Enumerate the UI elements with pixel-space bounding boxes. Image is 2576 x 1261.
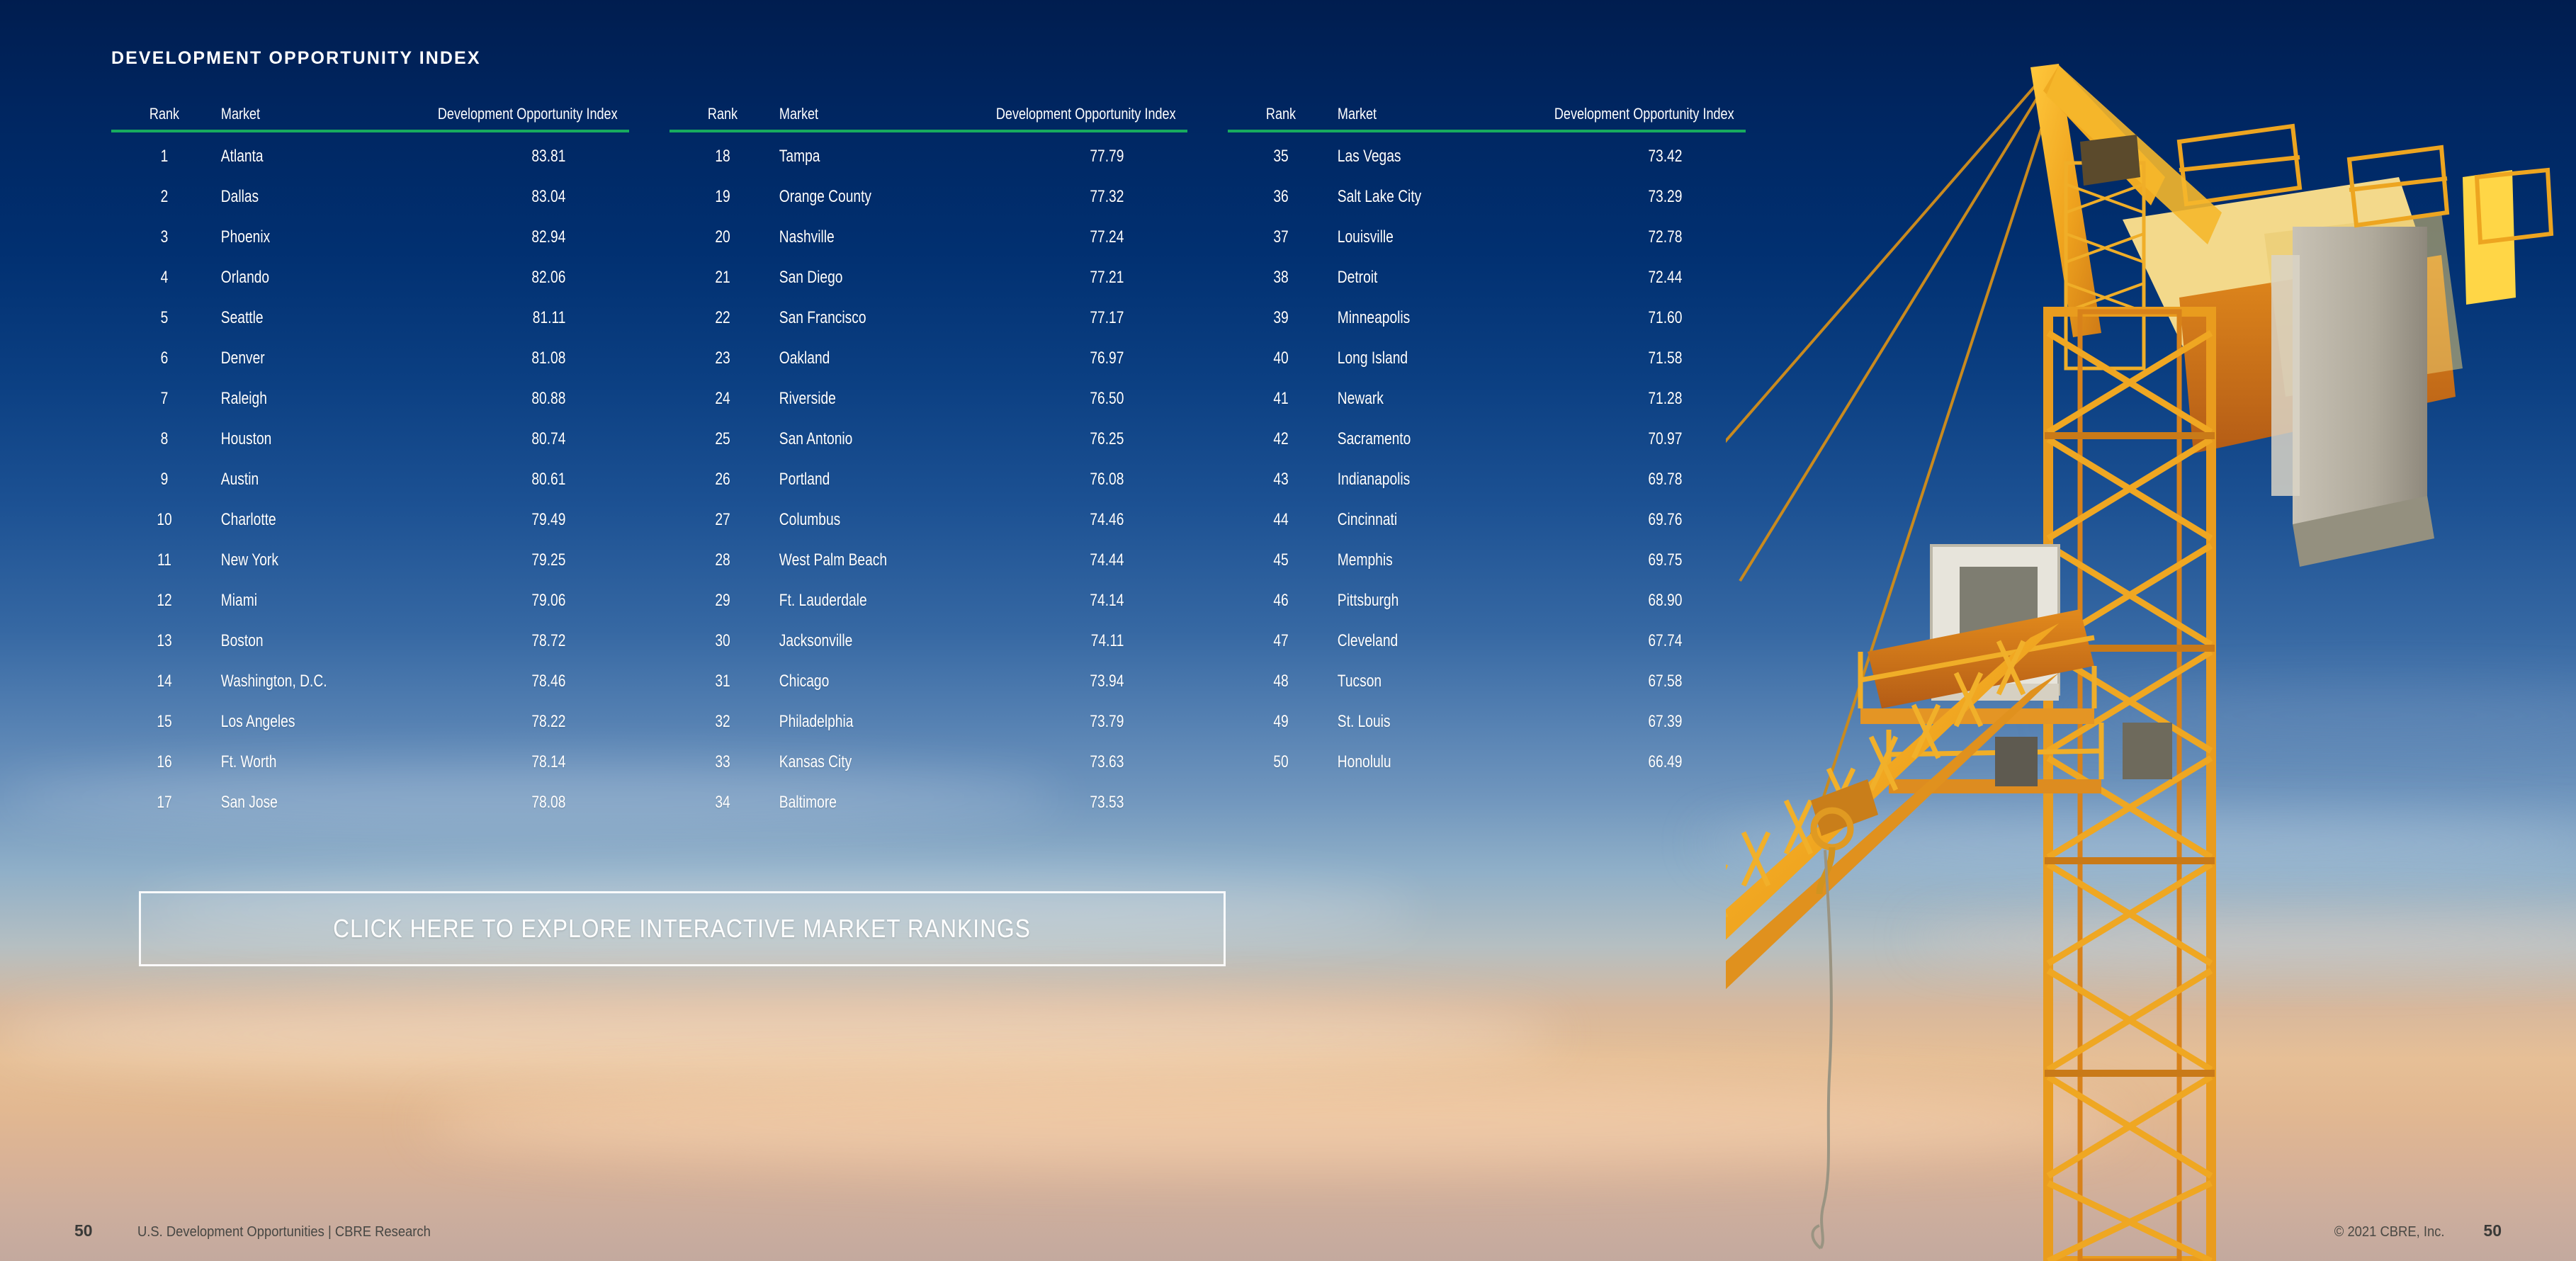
footer-caption: U.S. Development Opportunities | CBRE Re…	[137, 1224, 431, 1240]
cell-market: Honolulu	[1334, 752, 1447, 772]
cell-index: 69.75	[1530, 550, 1746, 570]
cell-rank: 23	[680, 349, 765, 368]
cell-index: 71.60	[1530, 308, 1746, 328]
table-row: 3Phoenix82.94	[111, 217, 629, 257]
table-row: 22San Francisco77.17	[670, 298, 1187, 338]
table-row: 31Chicago73.94	[670, 661, 1187, 701]
cell-rank: 44	[1238, 510, 1323, 530]
cell-index: 67.58	[1530, 672, 1746, 691]
cell-index: 81.08	[413, 349, 629, 368]
cell-index: 76.25	[971, 429, 1187, 449]
table-row: 34Baltimore73.53	[670, 782, 1187, 822]
table-row: 7Raleigh80.88	[111, 378, 629, 419]
header-divider-green	[111, 130, 629, 132]
cell-market: San Francisco	[776, 308, 889, 328]
cell-market: Pittsburgh	[1334, 591, 1447, 611]
cell-rank: 3	[122, 227, 207, 247]
cell-rank: 29	[680, 591, 765, 611]
cell-market: Philadelphia	[776, 712, 889, 732]
table-row: 50Honolulu66.49	[1228, 742, 1746, 782]
table-row: 23Oakland76.97	[670, 338, 1187, 378]
cell-market: Charlotte	[218, 510, 331, 530]
footer-left: 50 U.S. Development Opportunities | CBRE…	[74, 1221, 443, 1240]
cell-index: 72.78	[1530, 227, 1746, 247]
table-row: 14Washington, D.C.78.46	[111, 661, 629, 701]
table-row: 11New York79.25	[111, 540, 629, 580]
cell-rank: 30	[680, 631, 765, 651]
table-row: 25San Antonio76.25	[670, 419, 1187, 459]
cell-market: Memphis	[1334, 550, 1447, 570]
column-header-market: Market	[1334, 105, 1450, 123]
cell-rank: 27	[680, 510, 765, 530]
cell-rank: 1	[122, 147, 207, 166]
cell-index: 76.50	[971, 389, 1187, 409]
cell-index: 74.11	[971, 631, 1187, 651]
cell-market: Seattle	[218, 308, 331, 328]
cell-index: 74.14	[971, 591, 1187, 611]
cell-rank: 32	[680, 712, 765, 732]
cell-market: Orlando	[218, 268, 331, 288]
table-row: 44Cincinnati69.76	[1228, 499, 1746, 540]
cell-market: Boston	[218, 631, 331, 651]
cell-market: St. Louis	[1334, 712, 1447, 732]
cell-market: Miami	[218, 591, 331, 611]
cell-rank: 10	[122, 510, 207, 530]
cell-market: Long Island	[1334, 349, 1447, 368]
cell-index: 80.88	[413, 389, 629, 409]
page-number-left: 50	[74, 1221, 93, 1240]
cell-rank: 24	[680, 389, 765, 409]
table-row: 36Salt Lake City73.29	[1228, 176, 1746, 217]
cell-market: Jacksonville	[776, 631, 889, 651]
cell-rank: 50	[1238, 752, 1323, 772]
cell-rank: 8	[122, 429, 207, 449]
table-body: 18Tampa77.7919Orange County77.3220Nashvi…	[670, 136, 1187, 822]
cell-index: 82.94	[413, 227, 629, 247]
cell-market: Columbus	[776, 510, 889, 530]
table-row: 42Sacramento70.97	[1228, 419, 1746, 459]
cell-market: Louisville	[1334, 227, 1447, 247]
cell-market: Detroit	[1334, 268, 1447, 288]
ranking-table-column-2: Rank Market Development Opportunity Inde…	[670, 92, 1187, 822]
cell-index: 79.25	[413, 550, 629, 570]
footer-right: © 2021 CBRE, Inc. 50	[2329, 1221, 2502, 1240]
cell-market: Phoenix	[218, 227, 331, 247]
cell-rank: 26	[680, 470, 765, 490]
cell-index: 73.53	[971, 793, 1187, 813]
cell-rank: 20	[680, 227, 765, 247]
cell-index: 78.72	[413, 631, 629, 651]
cell-rank: 4	[122, 268, 207, 288]
cell-rank: 38	[1238, 268, 1323, 288]
cell-index: 83.04	[413, 187, 629, 207]
cell-rank: 12	[122, 591, 207, 611]
cell-index: 78.46	[413, 672, 629, 691]
cell-index: 74.46	[971, 510, 1187, 530]
cell-rank: 46	[1238, 591, 1323, 611]
table-row: 32Philadelphia73.79	[670, 701, 1187, 742]
table-row: 26Portland76.08	[670, 459, 1187, 499]
table-row: 18Tampa77.79	[670, 136, 1187, 176]
cell-index: 71.28	[1530, 389, 1746, 409]
cell-market: Houston	[218, 429, 331, 449]
cell-rank: 7	[122, 389, 207, 409]
page-number-right: 50	[2483, 1221, 2502, 1240]
cell-index: 81.11	[413, 308, 629, 328]
column-header-index: Development Opportunity Index	[408, 105, 629, 123]
column-header-rank: Rank	[121, 105, 208, 123]
cell-market: New York	[218, 550, 331, 570]
cell-rank: 48	[1238, 672, 1323, 691]
table-row: 30Jacksonville74.11	[670, 621, 1187, 661]
cell-rank: 41	[1238, 389, 1323, 409]
cell-rank: 47	[1238, 631, 1323, 651]
table-header-row: Rank Market Development Opportunity Inde…	[670, 92, 1187, 123]
cell-index: 77.17	[971, 308, 1187, 328]
table-row: 35Las Vegas73.42	[1228, 136, 1746, 176]
cell-market: Atlanta	[218, 147, 331, 166]
table-header-row: Rank Market Development Opportunity Inde…	[1228, 92, 1746, 123]
table-row: 21San Diego77.21	[670, 257, 1187, 298]
cell-index: 79.06	[413, 591, 629, 611]
cell-market: Washington, D.C.	[218, 672, 331, 691]
cell-rank: 14	[122, 672, 207, 691]
table-row: 12Miami79.06	[111, 580, 629, 621]
cell-market: Denver	[218, 349, 331, 368]
cell-index: 73.29	[1530, 187, 1746, 207]
cell-index: 76.08	[971, 470, 1187, 490]
cell-market: West Palm Beach	[776, 550, 889, 570]
table-row: 15Los Angeles78.22	[111, 701, 629, 742]
table-header-row: Rank Market Development Opportunity Inde…	[111, 92, 629, 123]
cell-rank: 16	[122, 752, 207, 772]
cell-rank: 18	[680, 147, 765, 166]
cell-market: Sacramento	[1334, 429, 1447, 449]
cell-index: 73.42	[1530, 147, 1746, 166]
cell-rank: 5	[122, 308, 207, 328]
cell-market: Kansas City	[776, 752, 889, 772]
cell-market: Las Vegas	[1334, 147, 1447, 166]
cell-rank: 25	[680, 429, 765, 449]
column-header-index: Development Opportunity Index	[966, 105, 1187, 123]
cell-market: Ft. Worth	[218, 752, 331, 772]
table-row: 38Detroit72.44	[1228, 257, 1746, 298]
table-row: 5Seattle81.11	[111, 298, 629, 338]
table-row: 16Ft. Worth78.14	[111, 742, 629, 782]
cell-index: 77.24	[971, 227, 1187, 247]
cell-market: Minneapolis	[1334, 308, 1447, 328]
cell-rank: 31	[680, 672, 765, 691]
cell-market: Portland	[776, 470, 889, 490]
cell-market: Salt Lake City	[1334, 187, 1447, 207]
table-row: 20Nashville77.24	[670, 217, 1187, 257]
table-row: 37Louisville72.78	[1228, 217, 1746, 257]
table-row: 24Riverside76.50	[670, 378, 1187, 419]
cell-rank: 39	[1238, 308, 1323, 328]
cell-market: Tampa	[776, 147, 889, 166]
cell-market: Nashville	[776, 227, 889, 247]
column-header-index: Development Opportunity Index	[1525, 105, 1746, 123]
cell-market: Ft. Lauderdale	[776, 591, 889, 611]
table-body: 1Atlanta83.812Dallas83.043Phoenix82.944O…	[111, 136, 629, 822]
column-header-rank: Rank	[1238, 105, 1325, 123]
cell-index: 74.44	[971, 550, 1187, 570]
cell-market: San Jose	[218, 793, 331, 813]
cell-index: 80.61	[413, 470, 629, 490]
column-header-market: Market	[776, 105, 892, 123]
table-row: 28West Palm Beach74.44	[670, 540, 1187, 580]
cell-rank: 13	[122, 631, 207, 651]
cell-rank: 43	[1238, 470, 1323, 490]
cell-index: 73.63	[971, 752, 1187, 772]
table-row: 8Houston80.74	[111, 419, 629, 459]
cell-rank: 40	[1238, 349, 1323, 368]
table-row: 47Cleveland67.74	[1228, 621, 1746, 661]
table-row: 49St. Louis67.39	[1228, 701, 1746, 742]
table-row: 17San Jose78.08	[111, 782, 629, 822]
cell-rank: 34	[680, 793, 765, 813]
cell-market: San Antonio	[776, 429, 889, 449]
ranking-table-column-1: Rank Market Development Opportunity Inde…	[111, 92, 629, 822]
table-row: 33Kansas City73.63	[670, 742, 1187, 782]
cell-rank: 33	[680, 752, 765, 772]
cell-rank: 35	[1238, 147, 1323, 166]
cell-rank: 2	[122, 187, 207, 207]
table-row: 1Atlanta83.81	[111, 136, 629, 176]
table-row: 41Newark71.28	[1228, 378, 1746, 419]
table-row: 48Tucson67.58	[1228, 661, 1746, 701]
cell-market: Newark	[1334, 389, 1447, 409]
cell-rank: 28	[680, 550, 765, 570]
cell-index: 83.81	[413, 147, 629, 166]
cell-market: Indianapolis	[1334, 470, 1447, 490]
cell-index: 66.49	[1530, 752, 1746, 772]
cell-index: 78.22	[413, 712, 629, 732]
cell-market: San Diego	[776, 268, 889, 288]
cell-rank: 37	[1238, 227, 1323, 247]
cell-rank: 15	[122, 712, 207, 732]
cell-index: 76.97	[971, 349, 1187, 368]
cell-rank: 6	[122, 349, 207, 368]
cell-market: Riverside	[776, 389, 889, 409]
column-header-rank: Rank	[679, 105, 767, 123]
table-row: 6Denver81.08	[111, 338, 629, 378]
column-header-market: Market	[218, 105, 334, 123]
table-row: 45Memphis69.75	[1228, 540, 1746, 580]
cell-market: Cleveland	[1334, 631, 1447, 651]
cell-market: Baltimore	[776, 793, 889, 813]
cell-rank: 42	[1238, 429, 1323, 449]
cell-rank: 17	[122, 793, 207, 813]
cell-index: 68.90	[1530, 591, 1746, 611]
table-row: 29Ft. Lauderdale74.14	[670, 580, 1187, 621]
cell-index: 77.79	[971, 147, 1187, 166]
cell-index: 69.76	[1530, 510, 1746, 530]
cell-index: 73.79	[971, 712, 1187, 732]
cell-rank: 22	[680, 308, 765, 328]
cell-index: 67.74	[1530, 631, 1746, 651]
cell-market: Chicago	[776, 672, 889, 691]
table-row: 4Orlando82.06	[111, 257, 629, 298]
table-row: 2Dallas83.04	[111, 176, 629, 217]
copyright-notice: © 2021 CBRE, Inc.	[2334, 1224, 2445, 1240]
cta-label: CLICK HERE TO EXPLORE INTERACTIVE MARKET…	[334, 914, 1032, 944]
cell-index: 67.39	[1530, 712, 1746, 732]
header-divider-green	[670, 130, 1187, 132]
cell-rank: 45	[1238, 550, 1323, 570]
cell-market: Los Angeles	[218, 712, 331, 732]
table-row: 10Charlotte79.49	[111, 499, 629, 540]
table-row: 40Long Island71.58	[1228, 338, 1746, 378]
cell-market: Orange County	[776, 187, 889, 207]
cell-market: Dallas	[218, 187, 331, 207]
cell-rank: 36	[1238, 187, 1323, 207]
cell-index: 77.32	[971, 187, 1187, 207]
header-divider-green	[1228, 130, 1746, 132]
table-body: 35Las Vegas73.4236Salt Lake City73.2937L…	[1228, 136, 1746, 782]
cell-index: 70.97	[1530, 429, 1746, 449]
table-row: 9Austin80.61	[111, 459, 629, 499]
cell-market: Raleigh	[218, 389, 331, 409]
page-title: DEVELOPMENT OPPORTUNITY INDEX	[111, 48, 481, 69]
ranking-table-column-3: Rank Market Development Opportunity Inde…	[1228, 92, 1746, 782]
cell-index: 78.14	[413, 752, 629, 772]
cell-index: 77.21	[971, 268, 1187, 288]
cell-index: 78.08	[413, 793, 629, 813]
cell-rank: 9	[122, 470, 207, 490]
table-row: 27Columbus74.46	[670, 499, 1187, 540]
table-row: 43Indianapolis69.78	[1228, 459, 1746, 499]
cell-market: Cincinnati	[1334, 510, 1447, 530]
cell-rank: 49	[1238, 712, 1323, 732]
cell-index: 79.49	[413, 510, 629, 530]
explore-market-rankings-button[interactable]: CLICK HERE TO EXPLORE INTERACTIVE MARKET…	[139, 891, 1226, 966]
cell-index: 80.74	[413, 429, 629, 449]
cell-index: 73.94	[971, 672, 1187, 691]
cell-market: Austin	[218, 470, 331, 490]
cell-index: 72.44	[1530, 268, 1746, 288]
cell-index: 82.06	[413, 268, 629, 288]
table-row: 13Boston78.72	[111, 621, 629, 661]
cell-rank: 21	[680, 268, 765, 288]
cell-rank: 11	[122, 550, 207, 570]
table-row: 19Orange County77.32	[670, 176, 1187, 217]
table-row: 39Minneapolis71.60	[1228, 298, 1746, 338]
table-row: 46Pittsburgh68.90	[1228, 580, 1746, 621]
cell-index: 71.58	[1530, 349, 1746, 368]
cell-market: Oakland	[776, 349, 889, 368]
cell-market: Tucson	[1334, 672, 1447, 691]
cell-rank: 19	[680, 187, 765, 207]
cell-index: 69.78	[1530, 470, 1746, 490]
